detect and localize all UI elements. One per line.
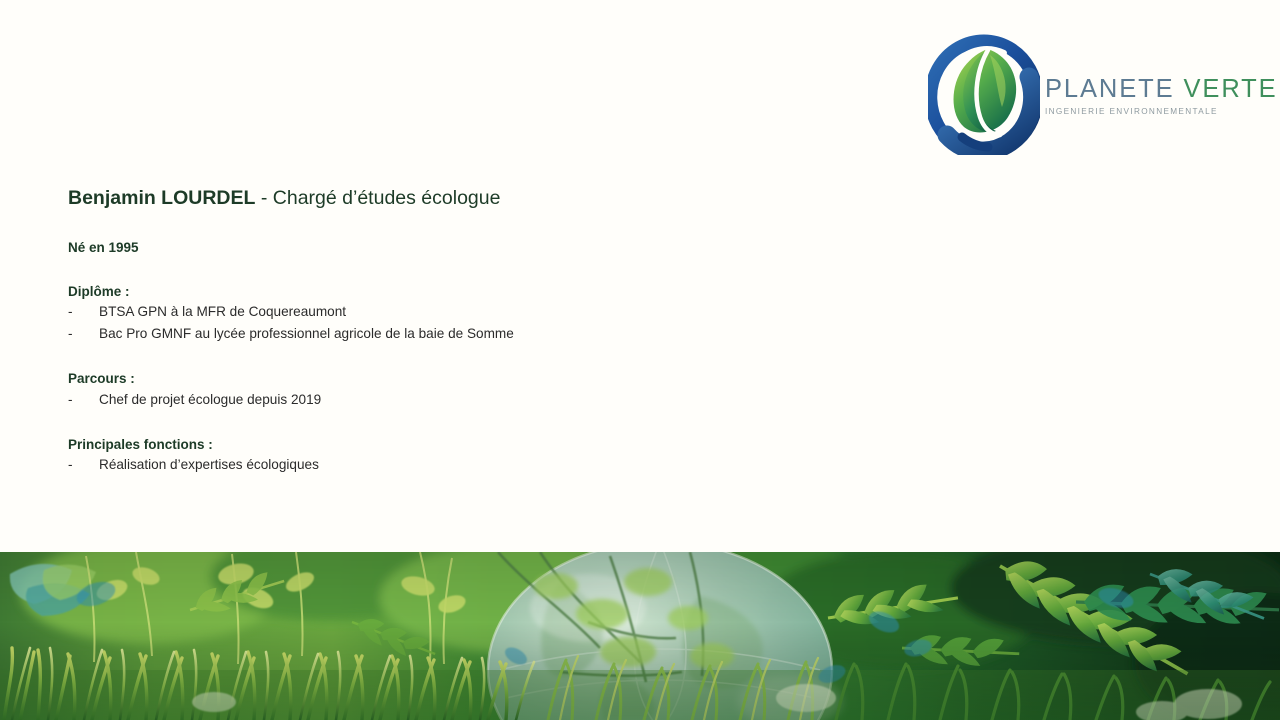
spacer — [68, 211, 888, 238]
bullet-list: - Chef de projet écologue depuis 2019 — [68, 389, 888, 411]
list-item-text: Bac Pro GMNF au lycée professionnel agri… — [99, 326, 514, 341]
logo-text-block: PLANETE VERTE INGENIERIE ENVIRONNEMENTAL… — [1045, 77, 1230, 116]
list-item-text: Réalisation d’expertises écologiques — [99, 457, 319, 472]
list-item: - Bac Pro GMNF au lycée professionnel ag… — [68, 323, 888, 345]
planete-verte-globe-leaf-mark — [928, 33, 1040, 155]
spacer — [68, 411, 888, 435]
section-diplome: Diplôme : - BTSA GPN à la MFR de Coquere… — [68, 282, 888, 346]
bullet-dash-icon: - — [68, 323, 73, 345]
bullet-list: - Réalisation d’expertises écologiques — [68, 454, 888, 476]
section-parcours: Parcours : - Chef de projet écologue dep… — [68, 369, 888, 411]
headline-separator: - — [255, 187, 272, 209]
person-role: Chargé d’études écologue — [273, 187, 501, 209]
company-logo: PLANETE VERTE INGENIERIE ENVIRONNEMENTAL… — [928, 33, 1230, 158]
list-item-text: BTSA GPN à la MFR de Coquereaumont — [99, 304, 346, 319]
list-item: - Réalisation d’expertises écologiques — [68, 454, 888, 476]
nature-banner-image — [0, 552, 1280, 720]
slide: PLANETE VERTE INGENIERIE ENVIRONNEMENTAL… — [0, 0, 1280, 720]
logo-tagline: INGENIERIE ENVIRONNEMENTALE — [1045, 108, 1230, 116]
section-title: Diplôme : — [68, 282, 888, 302]
bullet-dash-icon: - — [68, 301, 73, 323]
birth-year-label: Né en 1995 — [68, 238, 888, 258]
section-title: Parcours : — [68, 369, 888, 389]
logo-wordmark: PLANETE VERTE — [1045, 77, 1230, 103]
bullet-dash-icon: - — [68, 389, 73, 411]
spacer — [68, 258, 888, 282]
list-item: - Chef de projet écologue depuis 2019 — [68, 389, 888, 411]
person-name: Benjamin LOURDEL — [68, 187, 255, 209]
page-title: Benjamin LOURDEL - Chargé d’études écolo… — [68, 186, 888, 211]
logo-word-verte: VERTE — [1184, 75, 1278, 103]
section-title: Principales fonctions : — [68, 435, 888, 455]
list-item-text: Chef de projet écologue depuis 2019 — [99, 392, 321, 407]
logo-word-planete: PLANETE — [1045, 75, 1175, 103]
list-item: - BTSA GPN à la MFR de Coquereaumont — [68, 301, 888, 323]
slide-content: Benjamin LOURDEL - Chargé d’études écolo… — [68, 186, 888, 476]
bullet-dash-icon: - — [68, 454, 73, 476]
bullet-list: - BTSA GPN à la MFR de Coquereaumont - B… — [68, 301, 888, 345]
section-principales-fonctions: Principales fonctions : - Réalisation d’… — [68, 435, 888, 477]
spacer — [68, 345, 888, 369]
